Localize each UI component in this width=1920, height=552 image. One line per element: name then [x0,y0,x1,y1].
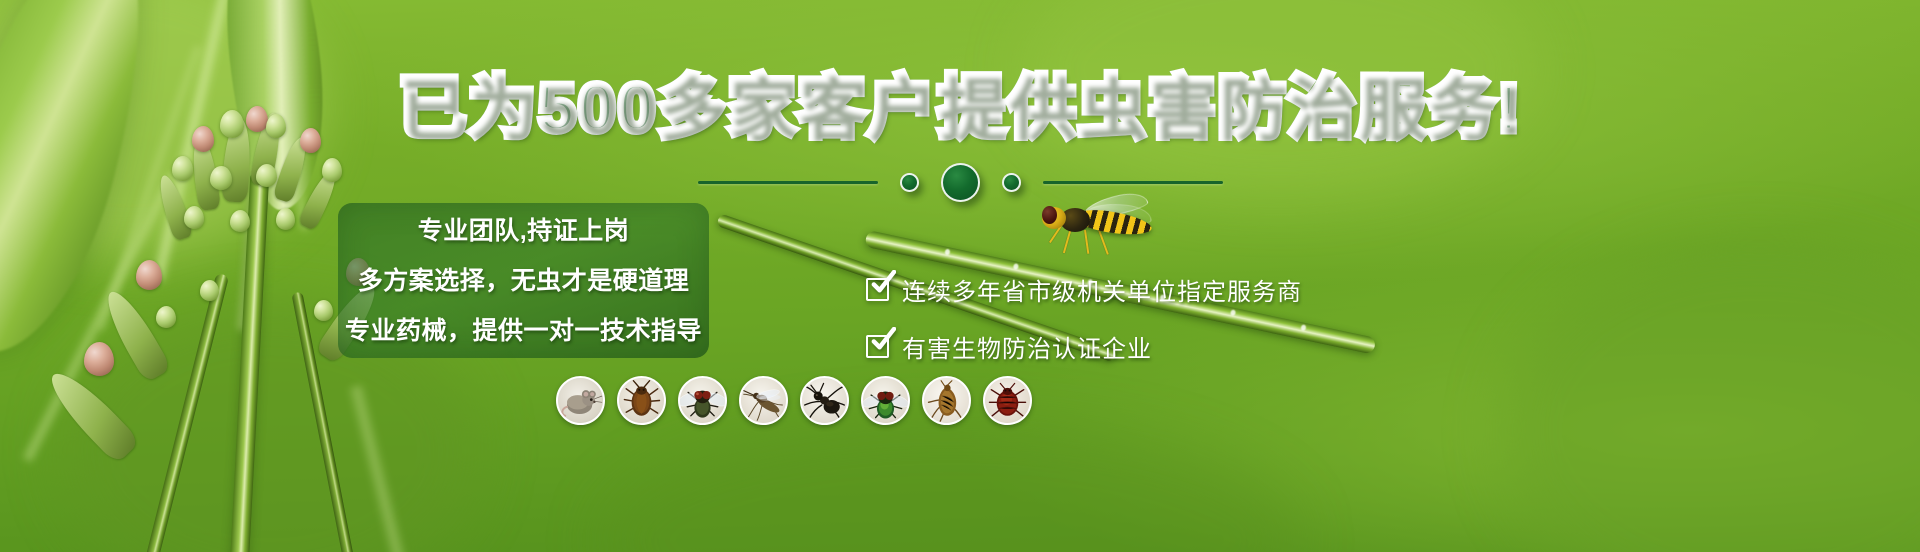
credentials-checklist: 连续多年省市级机关单位指定服务商 有害生物防治认证企业 [866,272,1302,364]
divider-dot-large [941,163,980,202]
cockroach-icon[interactable] [617,376,666,425]
promo-banner: 已为500多家客户提供虫害防治服务! 专业团队,持证上岗 多方案选择，无虫才是硬… [0,0,1920,552]
insect-eye [1042,206,1057,224]
selling-point-2: 多方案选择，无虫才是硬道理 [358,261,690,297]
bedbug-icon[interactable] [983,376,1032,425]
insect-leg [1098,230,1109,255]
page-title: 已为500多家客户提供虫害防治服务! [0,74,1920,142]
divider-dot-small [1002,173,1021,192]
divider-rule-right [1043,181,1223,184]
greenbottle-fly-icon[interactable] [861,376,910,425]
selling-point-3: 专业药械，提供一对一技术指导 [345,311,702,347]
decorative-divider [0,163,1920,202]
rat-icon[interactable] [556,376,605,425]
checkbox-checked-icon [866,335,889,358]
selling-point-1: 专业团队,持证上岗 [418,211,629,247]
list-item: 有害生物防治认证企业 [866,329,1302,364]
credential-label: 有害生物防治认证企业 [902,329,1152,364]
plant-bud [184,206,204,229]
credential-label: 连续多年省市级机关单位指定服务商 [902,272,1302,307]
hoverfly-icon [1030,194,1158,256]
list-item: 连续多年省市级机关单位指定服务商 [866,272,1302,307]
plant-bud [156,306,176,328]
divider-dot-small [900,173,919,192]
mosquito-icon[interactable] [739,376,788,425]
page-title-text: 已为500多家客户提供虫害防治服务! [398,70,1522,146]
insect-leg [1084,230,1089,254]
pest-icon-row [556,376,1032,425]
flea-icon[interactable] [922,376,971,425]
selling-points-panel: 专业团队,持证上岗 多方案选择，无虫才是硬道理 专业药械，提供一对一技术指导 [338,203,709,358]
plant-bud [230,210,250,232]
ant-icon[interactable] [800,376,849,425]
plant-bud [200,280,219,301]
plant-bud [136,260,162,290]
divider-rule-left [698,181,878,184]
checkbox-checked-icon [866,278,889,301]
housefly-icon[interactable] [678,376,727,425]
plant-bud [84,342,114,376]
plant-bud [276,208,295,230]
plant-bud [314,300,333,321]
